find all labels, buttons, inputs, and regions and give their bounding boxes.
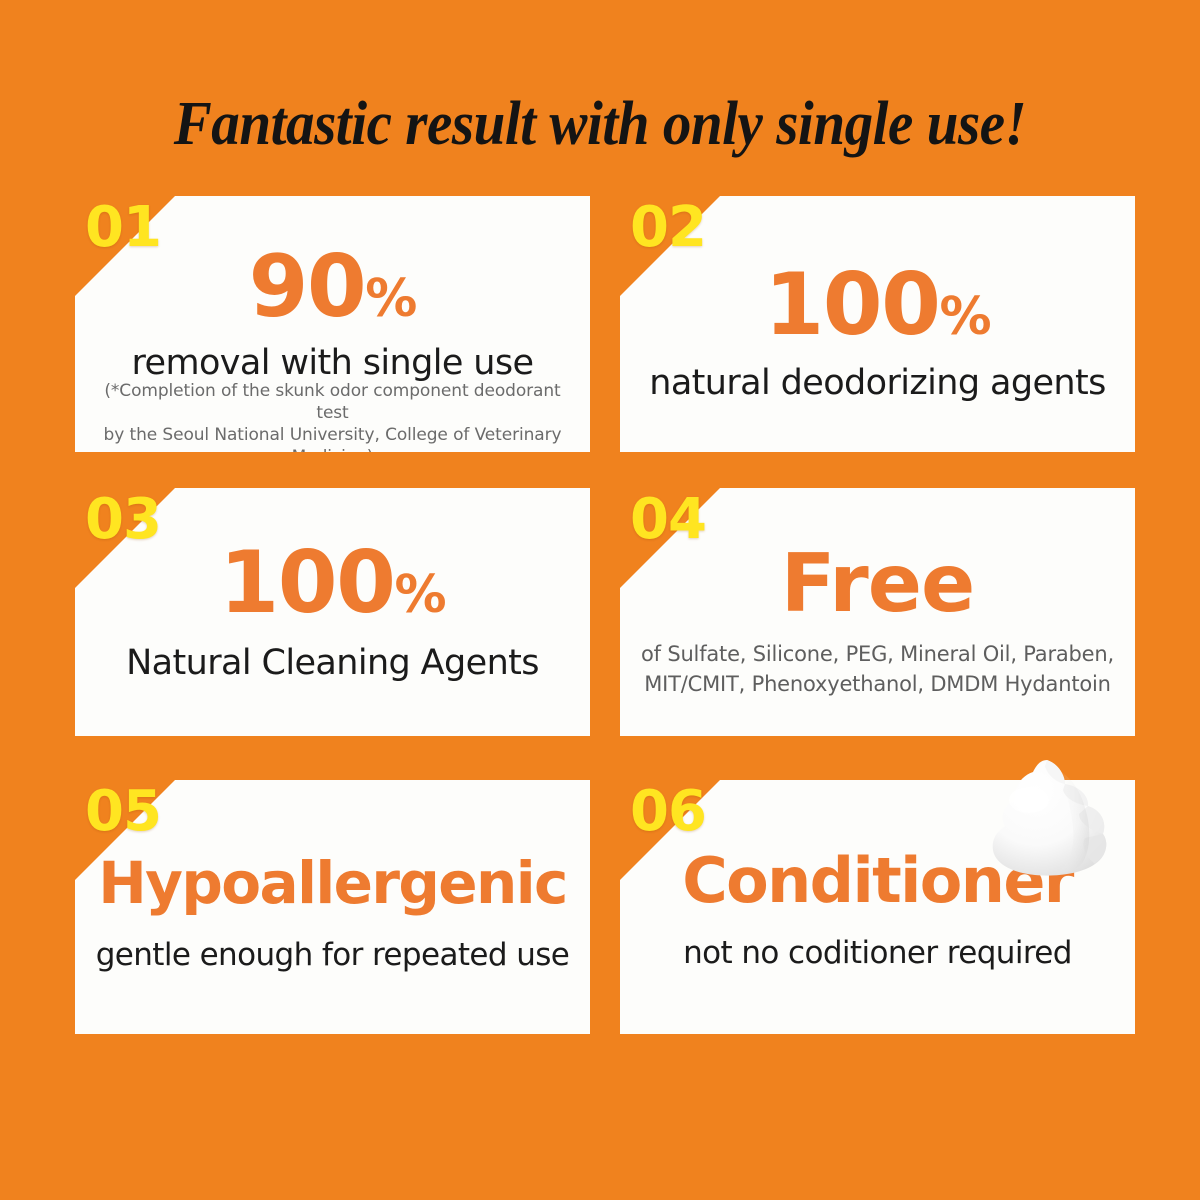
card-04-list-line-2: MIT/CMIT, Phenoxyethanol, DMDM Hydantoin bbox=[638, 670, 1117, 700]
card-02-headline-value: 100 bbox=[764, 255, 939, 355]
card-02-subtitle: natural deodorizing agents bbox=[620, 364, 1135, 403]
card-01-subtitle: removal with single use bbox=[75, 344, 590, 383]
card-06-headline: Conditioner bbox=[620, 850, 1135, 912]
card-01-note-line-2: by the Seoul National University, Colleg… bbox=[93, 424, 572, 468]
card-05-subtitle: gentle enough for repeated use bbox=[75, 938, 590, 973]
card-04-number: 04 bbox=[630, 492, 706, 548]
card-01-note-line-1: (*Completion of the skunk odor component… bbox=[93, 380, 572, 424]
page-title: Fantastic result with only single use! bbox=[48, 92, 1152, 157]
card-02-headline-unit: % bbox=[939, 287, 990, 347]
card-04-headline: Free bbox=[620, 544, 1135, 624]
card-06-headline-value: Conditioner bbox=[682, 844, 1073, 917]
card-05-number: 05 bbox=[85, 784, 161, 840]
card-01-headline-unit: % bbox=[365, 269, 416, 329]
card-06-number: 06 bbox=[630, 784, 706, 840]
card-05-headline-value: Hypoallergenic bbox=[98, 849, 567, 917]
card-03-number: 03 bbox=[85, 492, 161, 548]
card-03-headline-unit: % bbox=[394, 565, 445, 625]
card-02-headline: 100% bbox=[620, 262, 1135, 348]
card-03-subtitle: Natural Cleaning Agents bbox=[75, 644, 590, 683]
infographic-page: Fantastic result with only single use! 9… bbox=[0, 0, 1200, 1200]
feature-card-grid: 90% removal with single use (*Completion… bbox=[75, 196, 1135, 1034]
card-02-number: 02 bbox=[630, 200, 706, 256]
card-06-subtitle: not no coditioner required bbox=[620, 936, 1135, 971]
card-04-list-line-1: of Sulfate, Silicone, PEG, Mineral Oil, … bbox=[638, 640, 1117, 670]
card-03-headline: 100% bbox=[75, 540, 590, 626]
card-04-exclusion-list: of Sulfate, Silicone, PEG, Mineral Oil, … bbox=[620, 640, 1135, 700]
card-01-number: 01 bbox=[85, 200, 161, 256]
card-03-headline-value: 100 bbox=[219, 533, 394, 633]
card-01-headline-value: 90 bbox=[249, 237, 366, 337]
card-04-headline-value: Free bbox=[781, 537, 975, 630]
card-05-headline: Hypoallergenic bbox=[75, 854, 590, 912]
card-01-note: (*Completion of the skunk odor component… bbox=[75, 380, 590, 468]
